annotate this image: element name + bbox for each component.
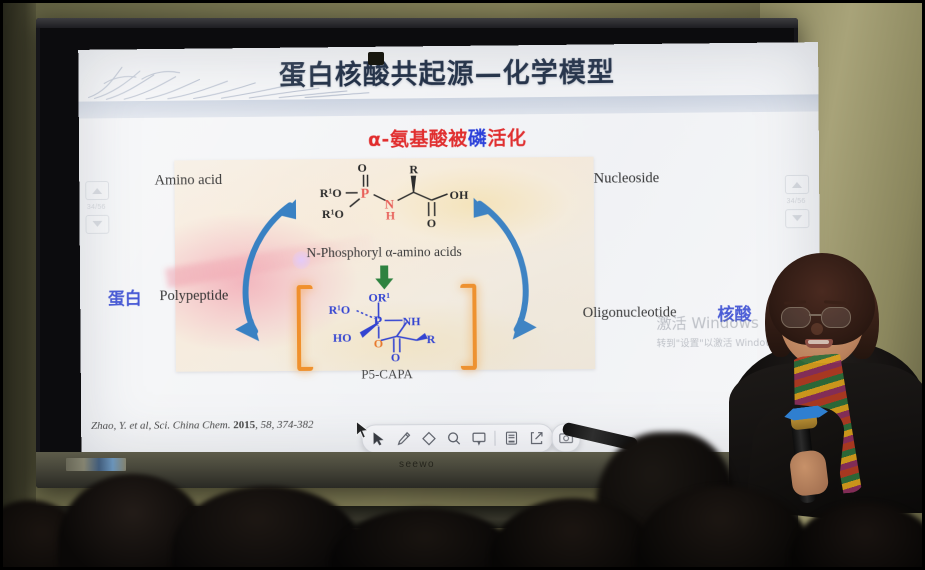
chem-label-oh: OH — [450, 188, 469, 203]
page-down-button-right[interactable] — [785, 209, 809, 228]
subtitle-pre: α-氨基酸被 — [368, 128, 468, 151]
interactive-display-panel[interactable]: 蛋白核酸共起源—化学模型 α-氨基酸被磷活化 — [36, 18, 798, 488]
presenter-glasses-bridge — [809, 314, 821, 316]
p5-capa-structure: OR¹ R¹O P NH HO O O R P5-CAPA — [301, 288, 473, 361]
subtitle-highlight: 磷 — [468, 128, 488, 150]
capa-label-r: R — [427, 332, 436, 347]
page-down-button[interactable] — [85, 215, 109, 234]
citation-text: Zhao, Y. et al, Sci. China Chem. 2015, 5… — [91, 419, 314, 432]
chem-label-o-double: O — [357, 161, 367, 176]
eraser-tool-button[interactable] — [416, 426, 441, 451]
presenter-glasses-left — [781, 307, 811, 328]
thumbnail-list-button[interactable] — [498, 426, 523, 451]
panel-status-badge — [66, 458, 126, 471]
subtitle-post: 活化 — [487, 127, 526, 149]
page-nav-left[interactable]: 34/56 — [85, 181, 107, 238]
callout-icon — [471, 431, 486, 446]
share-icon — [529, 430, 543, 445]
projected-slide[interactable]: 蛋白核酸共起源—化学模型 α-氨基酸被磷活化 — [78, 42, 821, 458]
comment-tool-button[interactable] — [466, 426, 491, 451]
page-nav-right[interactable]: 34/56 — [785, 175, 808, 232]
citation-year: 2015 — [233, 419, 255, 431]
magnifier-tool-button[interactable] — [441, 426, 466, 451]
chem-label-r1o-upper: R¹O — [320, 186, 342, 201]
search-icon — [446, 431, 461, 446]
presenter-hand — [788, 449, 829, 497]
presenter-nose — [811, 323, 823, 335]
presenter-glasses-right — [821, 307, 851, 328]
citation-rest: , 58, 374-382 — [255, 419, 314, 431]
panel-camera — [368, 52, 384, 65]
chem-label-r: R — [409, 162, 418, 177]
structure-caption-bottom: P5-CAPA — [301, 366, 473, 383]
room-wall-left — [0, 0, 36, 570]
capa-label-r1o: R¹O — [329, 303, 351, 318]
chem-label-r1o-lower: R¹O — [322, 207, 344, 222]
pen-icon — [396, 431, 411, 446]
cursor-tool-button[interactable] — [366, 426, 391, 451]
presenter-teeth — [808, 340, 829, 344]
page-up-button-right[interactable] — [785, 175, 809, 194]
citation-prefix: Zhao, Y. et al, Sci. China Chem. — [91, 419, 233, 432]
capa-label-o-ring: O — [374, 336, 383, 351]
reaction-scheme-figure: O R¹O R¹O P N H R OH O N-Phosphoryl α-am… — [174, 157, 595, 372]
page-indicator-right: 34/56 — [785, 198, 807, 205]
slide-title: 蛋白核酸共起源—化学模型 — [78, 48, 818, 95]
n-phosphoryl-structure: O R¹O R¹O P N H R OH O — [302, 162, 502, 240]
toolbar-divider — [494, 431, 495, 446]
chem-label-h: H — [386, 208, 396, 223]
capa-label-nh: NH — [403, 314, 421, 329]
slide-subtitle: α-氨基酸被磷活化 — [79, 120, 819, 154]
structure-caption-top: N-Phosphoryl α-amino acids — [175, 243, 594, 262]
presenter-person — [735, 255, 925, 505]
label-nucleoside: Nucleoside — [594, 170, 660, 188]
lecture-scene: 蛋白核酸共起源—化学模型 α-氨基酸被磷活化 — [0, 0, 925, 570]
pen-tool-button[interactable] — [391, 426, 416, 451]
capa-label-ho: HO — [333, 331, 352, 346]
capa-label-p: P — [374, 314, 383, 330]
share-export-button[interactable] — [523, 425, 548, 450]
panel-top-bezel — [36, 18, 798, 28]
chem-label-p: P — [361, 187, 370, 203]
list-icon — [504, 431, 518, 446]
label-protein-cn: 蛋白 — [108, 284, 142, 309]
page-indicator-left: 34/56 — [85, 204, 107, 211]
chem-label-o-carbonyl: O — [427, 216, 437, 231]
page-up-button[interactable] — [85, 181, 109, 200]
label-polypeptide: Polypeptide — [159, 288, 228, 305]
mouse-cursor-icon — [355, 420, 369, 439]
label-amino-acid: Amino acid — [155, 172, 223, 190]
cursor-icon — [373, 431, 386, 446]
device-brand-label: seewo — [399, 459, 435, 470]
capa-label-o-carbonyl: O — [391, 350, 400, 365]
eraser-icon — [421, 431, 436, 446]
annotation-toolbar[interactable] — [361, 423, 553, 453]
capa-label-or1: OR¹ — [368, 290, 390, 305]
